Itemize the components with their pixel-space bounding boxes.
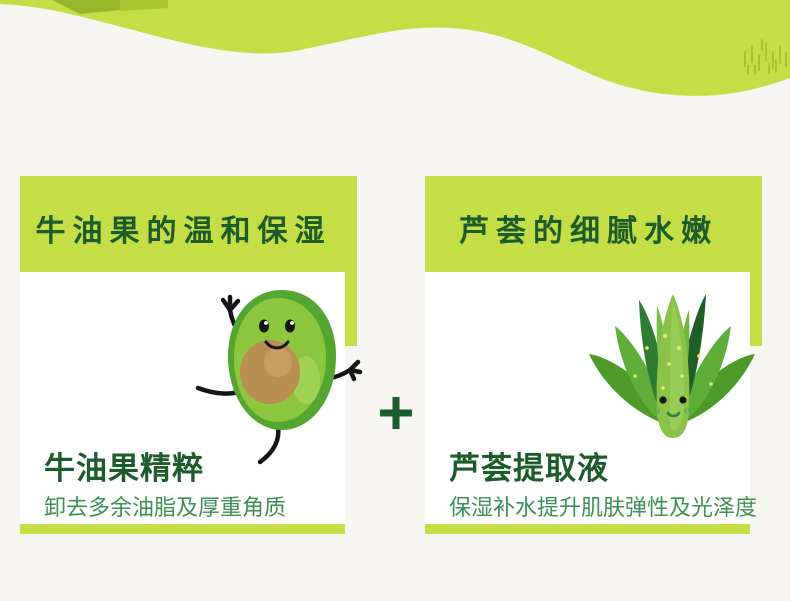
ingredient-card-aloe[interactable]: 芦荟的细腻水嫩 <box>425 176 770 536</box>
plus-separator <box>373 390 419 436</box>
card-title-aloe: 芦荟的细腻水嫩 <box>425 176 745 280</box>
ingredient-name-aloe: 芦荟提取液 <box>449 452 773 487</box>
header-wave-banner <box>0 0 790 110</box>
wave-shape <box>0 0 790 96</box>
card-text-aloe: 芦荟提取液 保湿补水提升肌肤弹性及光泽度 <box>443 452 773 520</box>
ingredient-name-avocado: 牛油果精粹 <box>44 452 368 487</box>
page-root: 牛油果的温和保湿 <box>0 0 790 601</box>
plus-icon <box>376 393 416 433</box>
ingredient-card-avocado[interactable]: 牛油果的温和保湿 <box>20 176 365 536</box>
ingredient-description-avocado: 卸去多余油脂及厚重角质 <box>44 495 368 520</box>
card-title-avocado: 牛油果的温和保湿 <box>20 176 340 280</box>
card-text-avocado: 牛油果精粹 卸去多余油脂及厚重角质 <box>38 452 368 520</box>
ingredient-cards-row: 牛油果的温和保湿 <box>0 176 790 536</box>
ingredient-description-aloe: 保湿补水提升肌肤弹性及光泽度 <box>449 495 773 520</box>
